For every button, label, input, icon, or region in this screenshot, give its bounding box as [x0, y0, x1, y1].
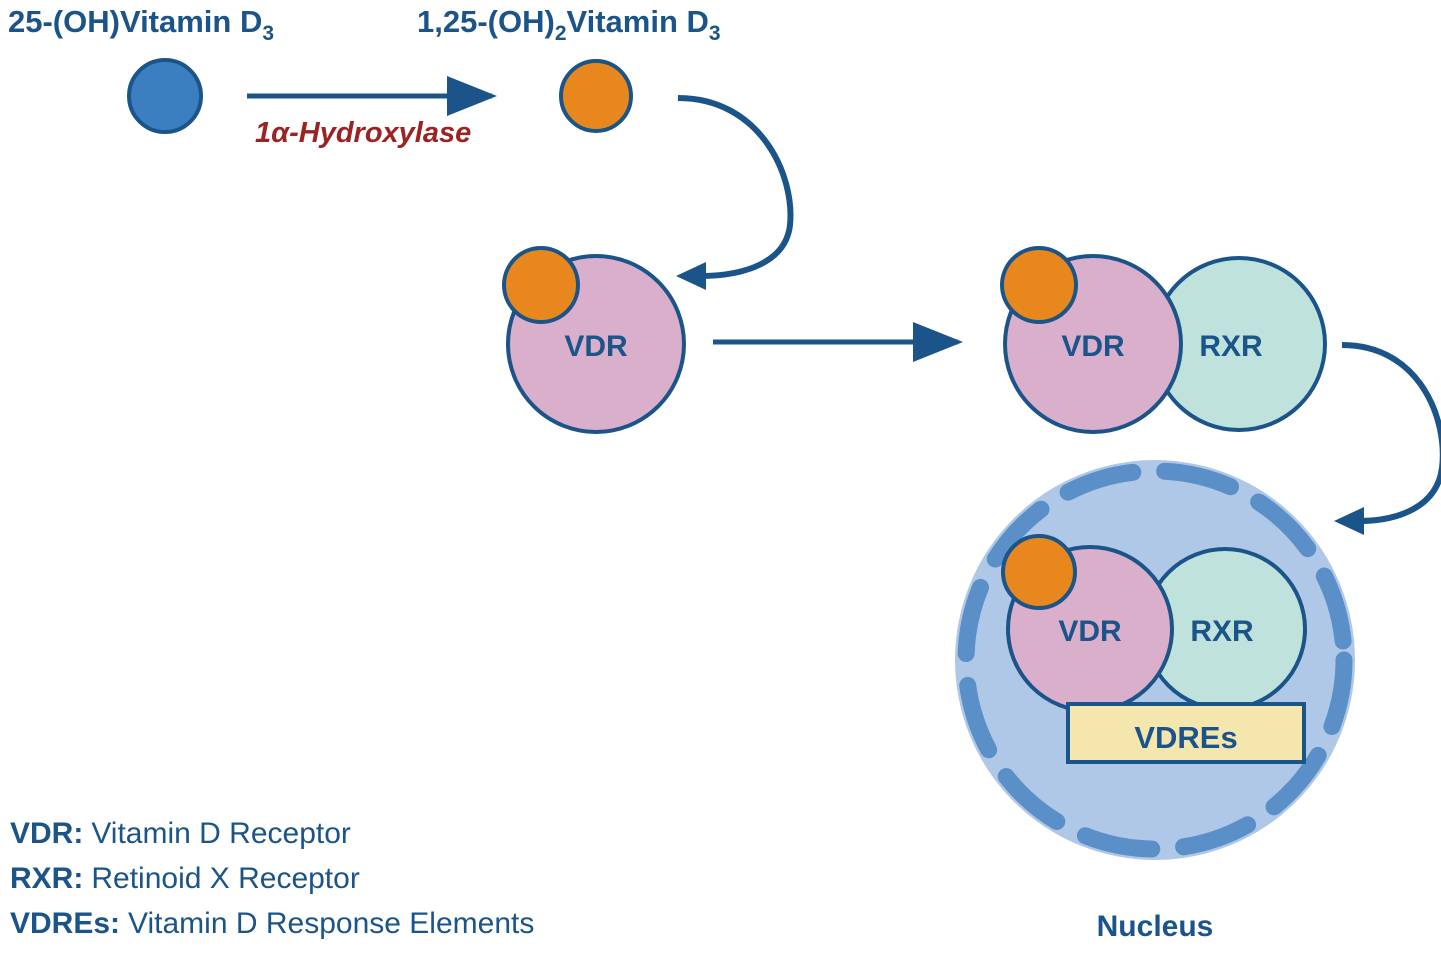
ligand-bound-vdr-group: VDR: [504, 248, 684, 432]
25-hydroxyvitamin-d3-molecule: [129, 60, 201, 132]
legend-definition-rxr: Retinoid X Receptor: [91, 862, 359, 895]
legend-term-vdres: VDREs:: [10, 907, 120, 940]
legend-term-vdr: VDR:: [10, 817, 83, 850]
legend-definition-vdr: Vitamin D Receptor: [91, 817, 351, 850]
curved-arrow-nuclear-translocation: [1342, 345, 1441, 521]
bound-ligand-circle-dimer: [1002, 248, 1076, 322]
product-label-subscript1: 2: [555, 22, 567, 45]
substrate-label: 25-(OH)Vitamin D3: [8, 4, 274, 45]
nucleus-group: VDR RXR VDREs Nucleus: [955, 460, 1355, 943]
nucleus-label: Nucleus: [1097, 910, 1214, 943]
product-label-part2: Vitamin D: [567, 4, 709, 39]
substrate-label-main: 25-(OH)Vitamin D: [8, 4, 262, 39]
rxr-label-dimer: RXR: [1199, 330, 1263, 363]
product-label: 1,25-(OH)2Vitamin D3: [417, 4, 721, 45]
legend-definition-vdres: Vitamin D Response Elements: [128, 907, 534, 940]
legend-term-rxr: RXR:: [10, 862, 83, 895]
curved-arrow-ligand-binding-head: [676, 262, 706, 290]
legend-group: VDR:Vitamin D Receptor RXR:Retinoid X Re…: [10, 817, 534, 940]
legend-row-vdres: VDREs:Vitamin D Response Elements: [10, 907, 534, 940]
product-label-part1: 1,25-(OH): [417, 4, 555, 39]
vdr-label-dimer: VDR: [1061, 330, 1125, 363]
1-25-dihydroxyvitamin-d3-molecule: [561, 61, 631, 131]
bound-ligand-circle-nuclear: [1003, 536, 1075, 608]
substrate-label-subscript: 3: [262, 22, 274, 45]
enzyme-label: 1α-Hydroxylase: [255, 117, 471, 149]
bound-ligand-circle: [504, 248, 578, 322]
vitamin-d-pathway-diagram: 25-(OH)Vitamin D3 1,25-(OH)2Vitamin D3 1…: [0, 0, 1441, 956]
curved-arrow-nuclear-translocation-head: [1334, 507, 1364, 535]
legend-row-vdr: VDR:Vitamin D Receptor: [10, 817, 351, 850]
vdr-rxr-heterodimer-group: VDR RXR: [1002, 248, 1325, 432]
product-label-subscript2: 3: [709, 22, 721, 45]
legend-row-rxr: RXR:Retinoid X Receptor: [10, 862, 360, 895]
curved-arrow-ligand-binding: [678, 98, 790, 276]
vdr-label-nuclear: VDR: [1058, 615, 1122, 648]
vdr-label: VDR: [564, 330, 628, 363]
vdres-label: VDREs: [1134, 720, 1237, 755]
rxr-label-nuclear: RXR: [1190, 615, 1254, 648]
pathway-svg-canvas: 25-(OH)Vitamin D3 1,25-(OH)2Vitamin D3 1…: [0, 0, 1441, 956]
